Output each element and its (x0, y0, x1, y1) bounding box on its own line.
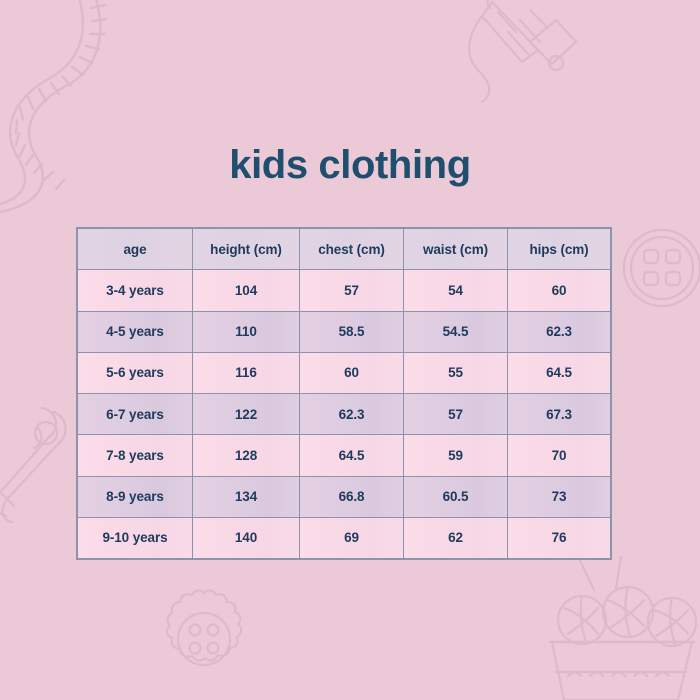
cell-chest: 69 (300, 517, 404, 558)
size-chart-table-container: age height (cm) chest (cm) waist (cm) hi… (77, 228, 610, 550)
measuring-tape-icon (0, 0, 190, 230)
cell-age: 3-4 years (78, 270, 193, 311)
cell-hips: 62.3 (508, 311, 611, 352)
cell-height: 104 (193, 270, 300, 311)
cell-hips: 67.3 (508, 394, 611, 435)
cell-height: 140 (193, 517, 300, 558)
table-row: 5-6 years 116 60 55 64.5 (78, 352, 611, 393)
cell-age: 4-5 years (78, 311, 193, 352)
yarn-basket-icon (546, 556, 700, 700)
table-row: 8-9 years 134 66.8 60.5 73 (78, 476, 611, 517)
cell-waist: 55 (404, 352, 508, 393)
cell-hips: 76 (508, 517, 611, 558)
table-body: 3-4 years 104 57 54 60 4-5 years 110 58.… (78, 270, 611, 559)
cell-hips: 70 (508, 435, 611, 476)
cell-chest: 57 (300, 270, 404, 311)
cell-height: 110 (193, 311, 300, 352)
cell-chest: 64.5 (300, 435, 404, 476)
table-row: 6-7 years 122 62.3 57 67.3 (78, 394, 611, 435)
cell-waist: 59 (404, 435, 508, 476)
cell-hips: 60 (508, 270, 611, 311)
cell-waist: 60.5 (404, 476, 508, 517)
cell-height: 116 (193, 352, 300, 393)
cell-hips: 73 (508, 476, 611, 517)
cell-age: 6-7 years (78, 394, 193, 435)
table-row: 9-10 years 140 69 62 76 (78, 517, 611, 558)
cell-chest: 60 (300, 352, 404, 393)
cell-age: 5-6 years (78, 352, 193, 393)
flower-button-icon (150, 585, 260, 690)
cell-age: 7-8 years (78, 435, 193, 476)
cell-age: 9-10 years (78, 517, 193, 558)
cell-height: 134 (193, 476, 300, 517)
cell-chest: 62.3 (300, 394, 404, 435)
column-header-age: age (78, 229, 193, 270)
cell-waist: 62 (404, 517, 508, 558)
column-header-hips: hips (cm) (508, 229, 611, 270)
table-row: 7-8 years 128 64.5 59 70 (78, 435, 611, 476)
cell-waist: 57 (404, 394, 508, 435)
cell-height: 128 (193, 435, 300, 476)
cell-chest: 66.8 (300, 476, 404, 517)
table-row: 4-5 years 110 58.5 54.5 62.3 (78, 311, 611, 352)
cell-height: 122 (193, 394, 300, 435)
thread-spool-icon (460, 0, 590, 114)
column-header-chest: chest (cm) (300, 229, 404, 270)
table-header: age height (cm) chest (cm) waist (cm) hi… (78, 229, 611, 270)
cell-chest: 58.5 (300, 311, 404, 352)
button-four-hole-icon (622, 222, 700, 316)
size-chart-table: age height (cm) chest (cm) waist (cm) hi… (77, 228, 611, 559)
size-chart-page: kids clothing age height (cm) chest (cm)… (0, 0, 700, 700)
table-header-row: age height (cm) chest (cm) waist (cm) hi… (78, 229, 611, 270)
page-title: kids clothing (0, 139, 700, 191)
column-header-waist: waist (cm) (404, 229, 508, 270)
column-header-height: height (cm) (193, 229, 300, 270)
table-row: 3-4 years 104 57 54 60 (78, 270, 611, 311)
cell-hips: 64.5 (508, 352, 611, 393)
cell-waist: 54 (404, 270, 508, 311)
cell-age: 8-9 years (78, 476, 193, 517)
cell-waist: 54.5 (404, 311, 508, 352)
